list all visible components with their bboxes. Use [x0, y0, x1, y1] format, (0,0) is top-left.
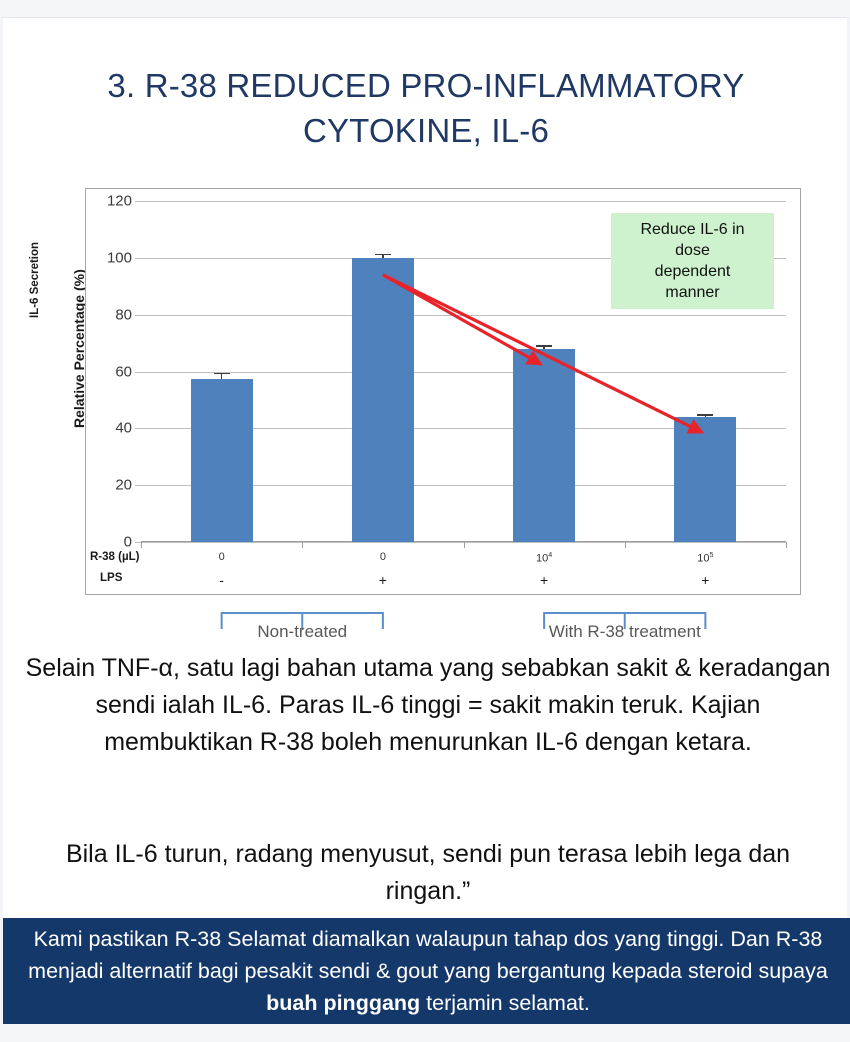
chart-bar	[513, 349, 575, 542]
bar-chart: 020406080100120 R-38 (µL) LPS Reduce IL-…	[85, 188, 801, 595]
chart-y-tick-mark	[135, 201, 141, 202]
chart-bar	[674, 417, 736, 542]
page-title-line-2: CYTOKINE, IL-6	[43, 108, 809, 153]
group-label-with-treatment: With R-38 treatment	[549, 622, 701, 642]
chart-gridline	[141, 372, 786, 373]
chart-x-tick	[141, 542, 142, 548]
chart-y-tick-label: 60	[115, 363, 132, 380]
chart-y-axis-outer-label: IL-6 Secretion	[29, 242, 41, 318]
chart-gridline	[141, 315, 786, 316]
body-paragraph-2: Bila IL-6 turun, radang menyusut, sendi …	[25, 836, 831, 910]
x-axis-value: 104	[536, 551, 552, 565]
chart-y-tick-label: 0	[124, 534, 132, 551]
x-axis-value: +	[701, 572, 709, 588]
chart-gridline	[141, 201, 786, 202]
footer-text-after: terjamin selamat.	[420, 991, 590, 1015]
chart-error-cap	[697, 414, 713, 416]
chart-y-tick-mark	[135, 372, 141, 373]
chart-y-tick-label: 120	[107, 193, 132, 210]
x-axis-row-label-r38: R-38 (µL)	[90, 551, 139, 563]
x-axis-value: +	[540, 572, 548, 588]
chart-y-tick-mark	[135, 428, 141, 429]
chart-y-tick-mark	[135, 258, 141, 259]
chart-y-tick-mark	[135, 485, 141, 486]
chart-x-tick	[786, 542, 787, 548]
x-axis-value: 105	[697, 551, 713, 565]
chart-error-cap	[536, 345, 552, 347]
x-axis-value: -	[219, 572, 224, 588]
annotation-line: Reduce IL-6 in	[615, 219, 770, 240]
chart-y-tick-mark	[135, 315, 141, 316]
chart-bar	[191, 379, 253, 542]
chart-error-cap	[214, 373, 230, 375]
x-axis-row-label-lps: LPS	[100, 572, 122, 584]
footer-banner: Kami pastikan R-38 Selamat diamalkan wal…	[3, 918, 850, 1024]
annotation-callout: Reduce IL-6 indosedependentmanner	[611, 213, 774, 309]
slide-card: 3. R-38 REDUCED PRO-INFLAMMATORY CYTOKIN…	[0, 17, 850, 1024]
chart-x-tick	[464, 542, 465, 548]
page-title: 3. R-38 REDUCED PRO-INFLAMMATORY CYTOKIN…	[43, 63, 809, 153]
footer-text: Kami pastikan R-38 Selamat diamalkan wal…	[18, 923, 838, 1019]
group-label-non-treated: Non-treated	[257, 622, 347, 642]
chart-bar	[352, 258, 414, 542]
x-axis-value: +	[379, 572, 387, 588]
footer-text-before: Kami pastikan R-38 Selamat diamalkan wal…	[28, 927, 828, 983]
chart-x-tick	[625, 542, 626, 548]
x-axis-value: 0	[380, 551, 386, 563]
annotation-line: manner	[615, 282, 770, 303]
chart-y-tick-label: 80	[115, 306, 132, 323]
chart-x-tick	[302, 542, 303, 548]
annotation-line: dependent	[615, 261, 770, 282]
chart-y-tick-label: 40	[115, 420, 132, 437]
chart-y-tick-label: 20	[115, 477, 132, 494]
page-title-line-1: 3. R-38 REDUCED PRO-INFLAMMATORY	[43, 63, 809, 108]
x-axis-value: 0	[219, 551, 225, 563]
body-paragraph-1: Selain TNF-α, satu lagi bahan utama yang…	[25, 650, 831, 761]
annotation-line: dose	[615, 240, 770, 261]
chart-error-cap	[375, 254, 391, 256]
footer-highlight: buah pinggang	[266, 991, 420, 1015]
chart-y-tick-label: 100	[107, 249, 132, 266]
